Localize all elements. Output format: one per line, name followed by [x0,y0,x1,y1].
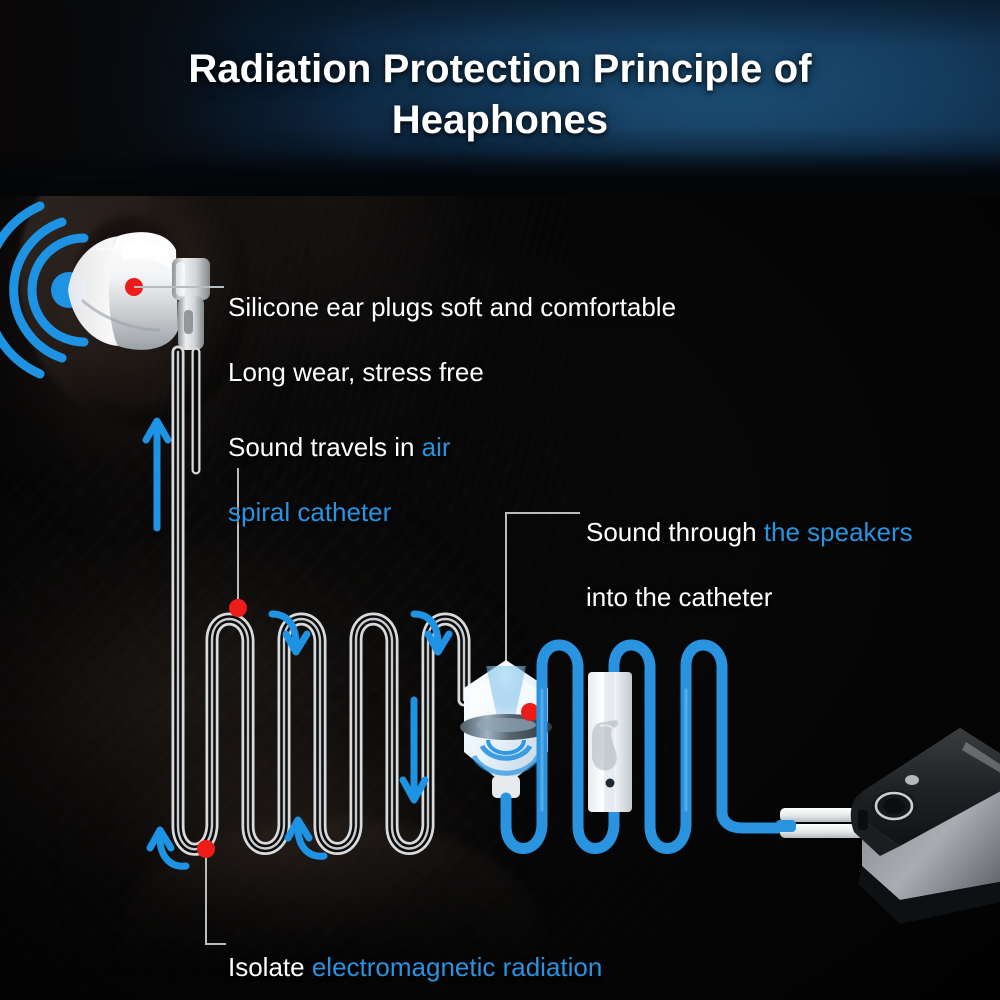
callout-4-blue: electromagnetic radiation [312,952,603,982]
camera-flash [905,775,919,785]
callout-sound-through-speakers: Sound through the speakers into the cath… [586,483,913,647]
marker-dot-upper-tube [229,599,247,617]
microphone-hole [606,779,615,788]
marker-dot-lower-tube [197,840,215,858]
inline-remote-control[interactable] [588,672,632,812]
callout-2-line-1: Sound travels in air [228,431,451,464]
callout-isolate-emr: Isolate electromagnetic radiation [228,918,602,984]
callout-4-white: Isolate [228,952,312,982]
callout-2-blue-spiral: spiral catheter [228,496,451,529]
smartphone [851,728,1000,924]
callout-1-line-1: Silicone ear plugs soft and comfortable [228,291,676,324]
callout-3-line-1: Sound through the speakers [586,516,913,549]
callout-3-blue: the speakers [764,517,913,547]
callout-3-line-2: into the catheter [586,581,913,614]
callout-air-spiral-catheter: Sound travels in air spiral catheter [228,398,451,562]
callout-2-white: Sound travels in [228,432,422,462]
infographic-root: Radiation Protection Principle of Heapho… [0,0,1000,1000]
marker-dot-speaker [521,703,539,721]
callout-1-line-2: Long wear, stress free [228,356,676,389]
camera-lens [872,790,916,822]
callout-3-white: Sound through [586,517,764,547]
callout-2-blue-air: air [422,432,451,462]
